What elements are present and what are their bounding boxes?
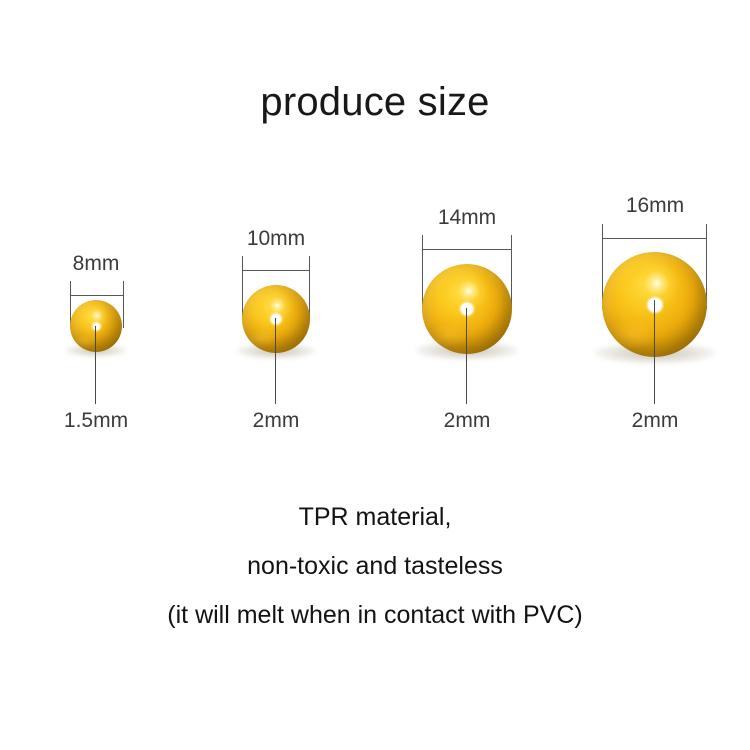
product-group-16mm: 16mm 2mm	[575, 0, 735, 460]
product-group-8mm: 8mm 1.5mm	[16, 0, 176, 460]
leader-line-icon-16mm	[654, 300, 655, 404]
diameter-label-16mm: 16mm	[575, 195, 735, 216]
diameter-label-8mm: 8mm	[16, 253, 176, 274]
diameter-label-10mm: 10mm	[196, 228, 356, 249]
product-group-10mm: 10mm 2mm	[196, 0, 356, 460]
bracket-bar	[70, 295, 124, 296]
hole-label-16mm: 2mm	[555, 410, 750, 431]
product-group-14mm: 14mm 2mm	[387, 0, 547, 460]
diameter-label-14mm: 14mm	[387, 207, 547, 228]
caption-line-material: TPR material,	[0, 505, 750, 530]
bracket-bar	[602, 238, 707, 239]
hole-label-8mm: 1.5mm	[0, 410, 196, 431]
bracket-bar	[422, 249, 512, 250]
hole-label-14mm: 2mm	[367, 410, 567, 431]
bracket-bar	[242, 270, 310, 271]
product-size-row: 8mm 1.5mm 10mm	[0, 0, 750, 460]
caption-line-safety: non-toxic and tasteless	[0, 554, 750, 579]
bracket-tick-right	[123, 281, 124, 328]
hole-label-10mm: 2mm	[176, 410, 376, 431]
product-size-infographic: produce size 8mm 1.5mm 10mm	[0, 0, 750, 750]
leader-line-icon-8mm	[95, 326, 96, 404]
leader-line-icon-10mm	[275, 318, 276, 404]
leader-line-icon-14mm	[466, 308, 467, 404]
caption-line-warning: (it will melt when in contact with PVC)	[0, 603, 750, 628]
caption-block: TPR material, non-toxic and tasteless (i…	[0, 505, 750, 628]
